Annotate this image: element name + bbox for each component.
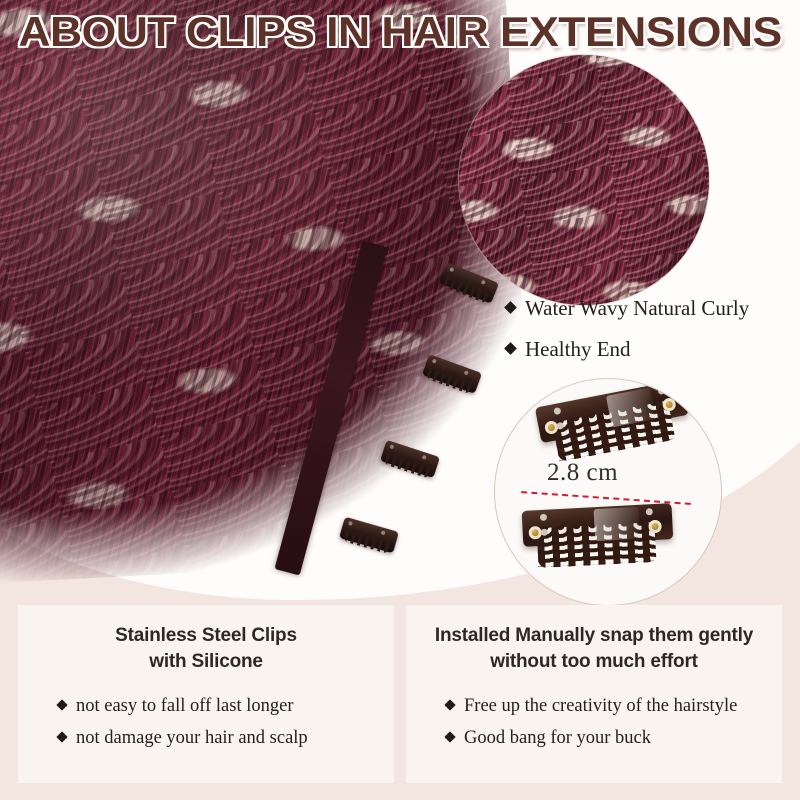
card-item-label: Free up the creativity of the hairstyle (464, 696, 737, 717)
feature-label: Water Wavy Natural Curly (525, 296, 749, 321)
card-title-line2: with Silicone (32, 649, 380, 675)
card-title: Stainless Steel Clips with Silicone (32, 623, 380, 674)
page-title: ABOUT CLIPS IN HAIR EXTENSIONS (0, 8, 800, 56)
curly-hair-circle-inset (459, 55, 709, 305)
card-list-item: not damage your hair and scalp (58, 728, 380, 749)
diamond-bullet-icon (504, 301, 517, 314)
card-bullet-list: Free up the creativity of the hairstyle … (420, 696, 768, 749)
card-list-item: Free up the creativity of the hairstyle (446, 696, 768, 717)
snap-clip-detail-circle: 2.8 cm (494, 378, 722, 606)
diamond-bullet-icon (504, 342, 517, 355)
card-installed-manually: Installed Manually snap them gently with… (406, 605, 782, 783)
card-item-label: not easy to fall off last longer (76, 696, 294, 717)
card-title-line1: Installed Manually snap them gently (420, 623, 768, 649)
card-item-label: Good bang for your buck (464, 728, 651, 749)
snap-clip-top (535, 379, 693, 465)
card-item-label: not damage your hair and scalp (76, 728, 308, 749)
hair-shading (0, 0, 535, 584)
bottom-cards: Stainless Steel Clips with Silicone not … (18, 605, 782, 783)
card-bullet-list: not easy to fall off last longer not dam… (32, 696, 380, 749)
diamond-bullet-icon (56, 700, 67, 711)
card-list-item: Good bang for your buck (446, 728, 768, 749)
card-title-line1: Stainless Steel Clips (32, 623, 380, 649)
main-hair-image (0, 0, 535, 584)
feature-item: Healthy End (506, 337, 796, 362)
feature-item: Water Wavy Natural Curly (506, 296, 796, 321)
card-title: Installed Manually snap them gently with… (420, 623, 768, 674)
diamond-bullet-icon (56, 732, 67, 743)
clip-highlight (594, 507, 641, 541)
snap-clip-bottom (522, 503, 675, 569)
measurement-label: 2.8 cm (547, 459, 618, 487)
feature-label: Healthy End (525, 337, 631, 362)
feature-list: Water Wavy Natural Curly Healthy End (506, 296, 796, 378)
diamond-bullet-icon (444, 700, 455, 711)
card-title-line2: without too much effort (420, 649, 768, 675)
card-list-item: not easy to fall off last longer (58, 696, 380, 717)
card-stainless-steel-clips: Stainless Steel Clips with Silicone not … (18, 605, 394, 783)
diamond-bullet-icon (444, 732, 455, 743)
inset-hair-strands (459, 55, 709, 305)
infographic-canvas: ABOUT CLIPS IN HAIR EXTENSIONS Water Wav… (0, 0, 800, 800)
